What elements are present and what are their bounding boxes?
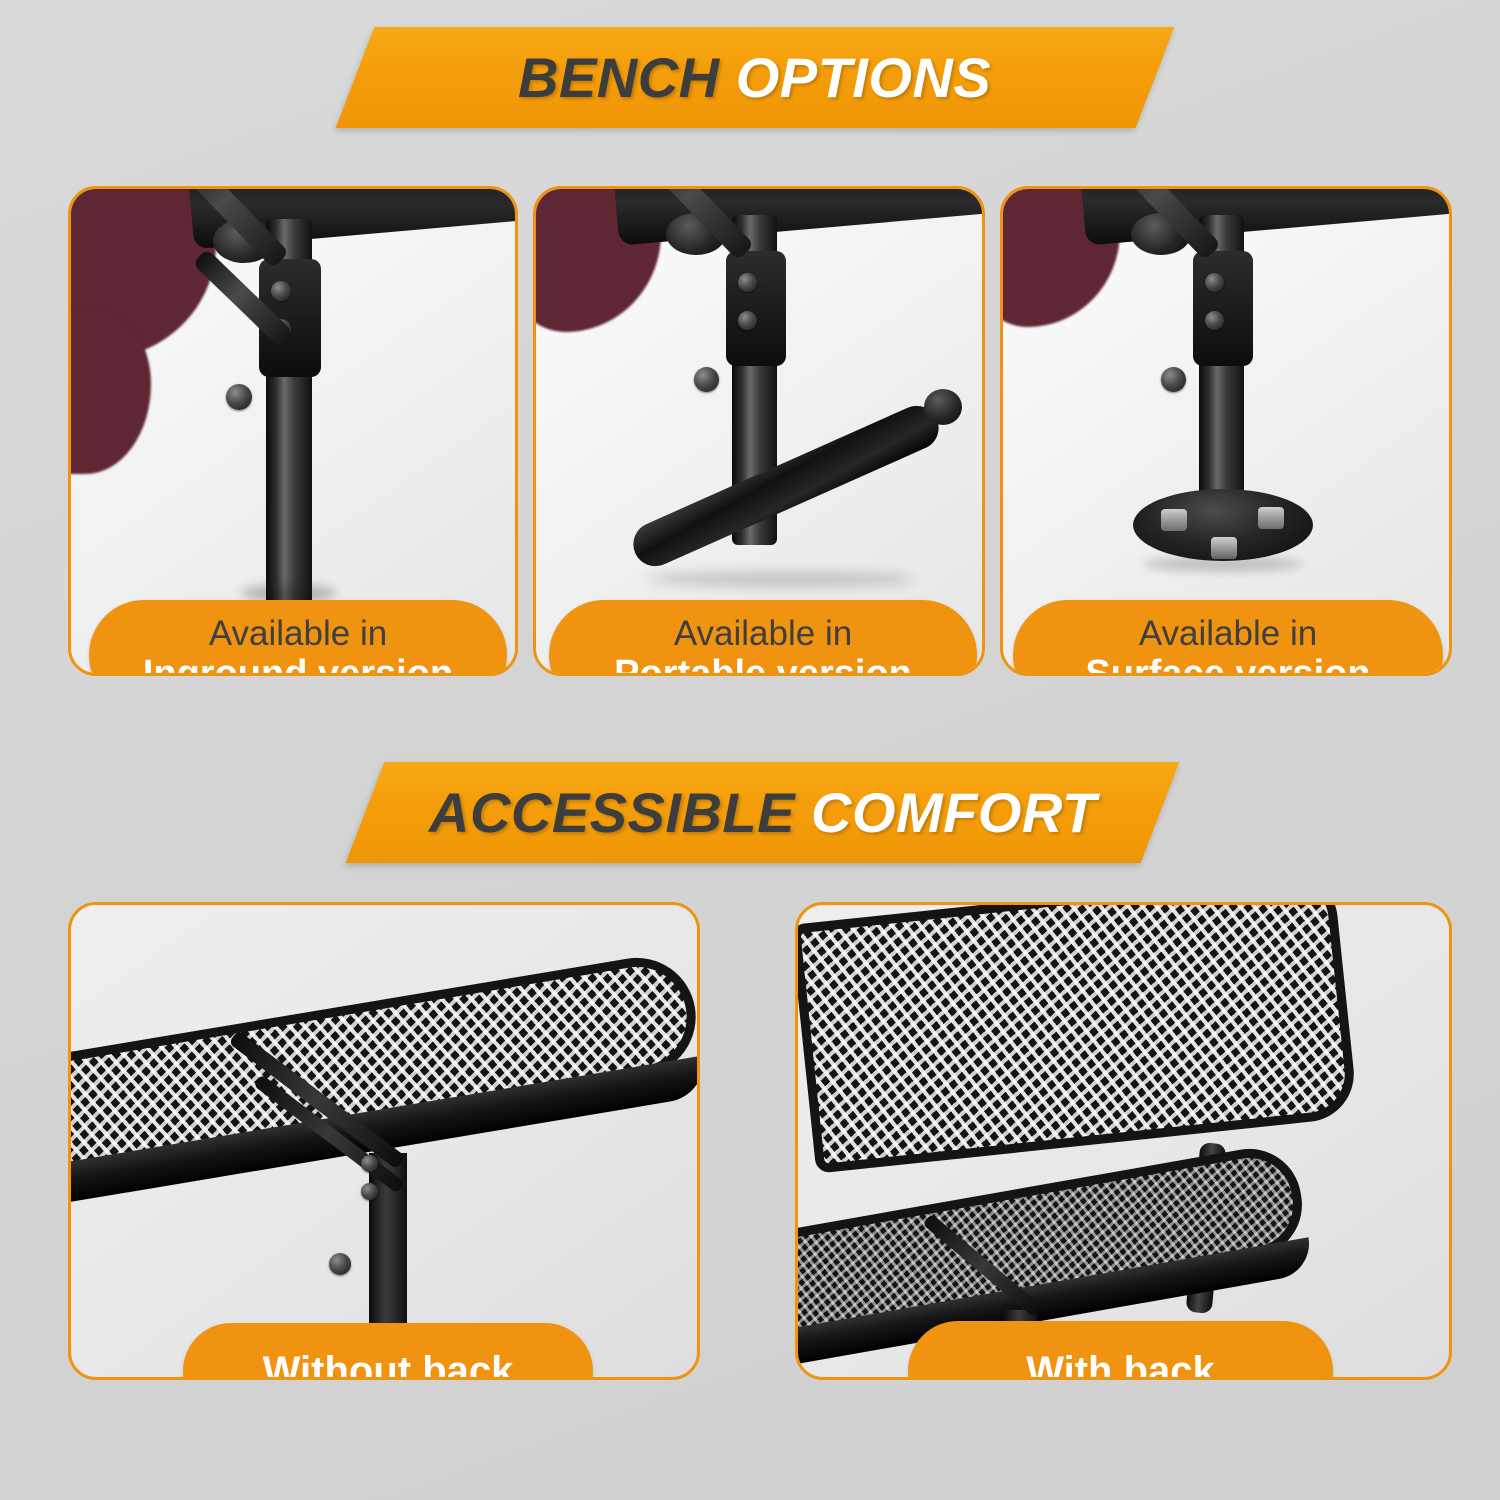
pill-line1: Available in bbox=[674, 614, 852, 653]
anchor-bolt-right bbox=[1258, 507, 1284, 529]
bracket-bolt-upper bbox=[738, 273, 757, 292]
pill-inground[interactable]: Available in Inground version bbox=[89, 600, 507, 676]
bracket-bolt-lower bbox=[1205, 311, 1224, 330]
card-inground[interactable]: Available in Inground version bbox=[68, 186, 518, 676]
section-banner-accessible-comfort: ACCESSIBLE COMFORT bbox=[346, 762, 1180, 863]
pill-line1: Available in bbox=[1139, 614, 1317, 653]
pill-line2: Inground version bbox=[143, 653, 453, 676]
banner-light-word: OPTIONS bbox=[736, 46, 992, 109]
brace-pivot-bolt bbox=[329, 1253, 351, 1275]
photo-with-back bbox=[798, 905, 1449, 1377]
leg-bolt-upper bbox=[361, 1155, 378, 1172]
anchor-bolt-front bbox=[1211, 537, 1237, 559]
arm-pivot-bolt bbox=[1161, 367, 1186, 392]
banner-text: ACCESSIBLE COMFORT bbox=[429, 780, 1097, 845]
card-portable[interactable]: Available in Portable version bbox=[533, 186, 985, 676]
runner-end-cap bbox=[924, 389, 962, 425]
photo-without-back bbox=[71, 905, 697, 1377]
card-surface[interactable]: Available in Surface version bbox=[1000, 186, 1452, 676]
pill-portable[interactable]: Available in Portable version bbox=[549, 600, 977, 676]
bench-backrest-mesh bbox=[795, 902, 1359, 1174]
card-without-back[interactable]: Without back bbox=[68, 902, 700, 1380]
banner-dark-word: BENCH bbox=[518, 46, 720, 109]
section-banner-bench-options: BENCH OPTIONS bbox=[336, 27, 1175, 128]
infographic-page: BENCH OPTIONS Available in Inground vers… bbox=[0, 0, 1500, 1500]
pill-with-back[interactable]: With back bbox=[908, 1321, 1333, 1380]
bracket-bolt-lower bbox=[738, 311, 757, 330]
ground-shadow bbox=[646, 571, 916, 587]
anchor-bolt-left bbox=[1161, 509, 1187, 531]
banner-dark-word: ACCESSIBLE bbox=[429, 781, 795, 844]
bracket-bolt-upper bbox=[271, 281, 291, 301]
pill-label: With back bbox=[1026, 1349, 1215, 1380]
pill-without-back[interactable]: Without back bbox=[183, 1323, 593, 1380]
leg-bracket bbox=[726, 251, 786, 366]
pill-line2: Surface version bbox=[1085, 653, 1370, 676]
portable-runner-tube bbox=[626, 399, 945, 573]
pill-surface[interactable]: Available in Surface version bbox=[1013, 600, 1443, 676]
banner-text: BENCH OPTIONS bbox=[518, 45, 991, 110]
pill-line2: Portable version bbox=[614, 653, 912, 676]
leg-bracket bbox=[1193, 251, 1253, 366]
ground-shadow bbox=[1143, 557, 1303, 571]
card-with-back[interactable]: With back bbox=[795, 902, 1452, 1380]
pill-line1: Available in bbox=[209, 614, 387, 653]
banner-light-word: COMFORT bbox=[811, 781, 1097, 844]
arm-pivot-bolt bbox=[694, 367, 719, 392]
arm-pivot-bolt bbox=[226, 384, 252, 410]
pill-label: Without back bbox=[263, 1349, 514, 1380]
leg-bolt-lower bbox=[361, 1183, 378, 1200]
bracket-bolt-upper bbox=[1205, 273, 1224, 292]
